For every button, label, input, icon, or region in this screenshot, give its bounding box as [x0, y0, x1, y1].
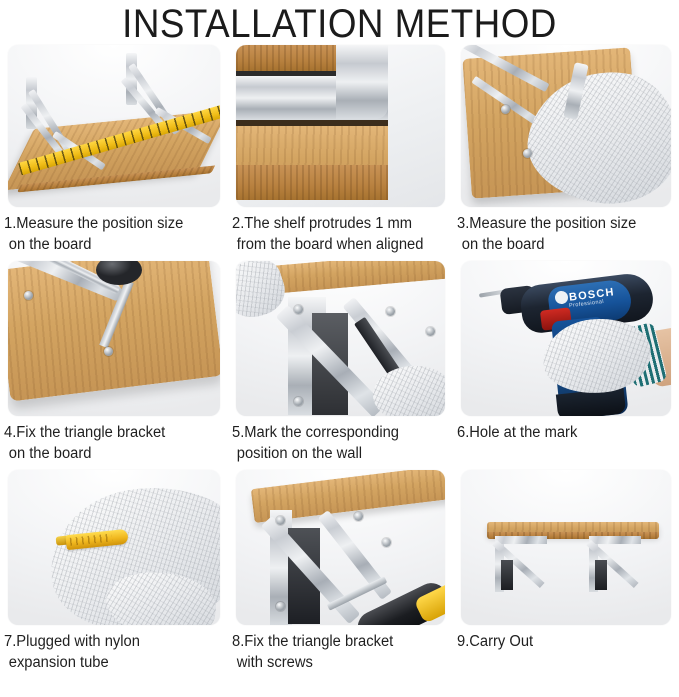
- rivet-icon: [276, 602, 285, 611]
- step-3-caption-line-2: on the board: [457, 234, 664, 255]
- step-8-caption-line-2: with screws: [232, 652, 438, 673]
- step-7-caption-line-2: expansion tube: [4, 652, 213, 673]
- nylon-plug-ribs: [70, 533, 113, 545]
- step-1-caption-line-2: on the board: [4, 234, 213, 255]
- step-1-caption: 1.Measure the position size on the board: [4, 213, 213, 261]
- step-9-caption-line-1: 9.Carry Out: [457, 633, 533, 650]
- step-1-caption-line-1: 1.Measure the position size: [4, 215, 183, 232]
- step-5-caption-line-2: position on the wall: [232, 443, 438, 464]
- step-8-image: [236, 470, 445, 625]
- step-2-caption: 2.The shelf protrudes 1 mm from the boar…: [232, 213, 438, 261]
- rivet-icon: [523, 149, 532, 158]
- step-9-caption: 9.Carry Out: [457, 631, 664, 679]
- step-4-caption-line-2: on the board: [4, 443, 213, 464]
- step-7-caption: 7.Plugged with nylon expansion tube: [4, 631, 213, 679]
- step-6-caption-line-1: 6.Hole at the mark: [457, 424, 577, 441]
- steps-row-1: 1.Measure the position size on the board: [0, 45, 679, 261]
- rivet-icon: [501, 105, 510, 114]
- page-title: INSTALLATION METHOD: [27, 0, 652, 46]
- steps-grid: 1.Measure the position size on the board: [0, 45, 679, 679]
- step-6-image: BOSCH Professional: [461, 261, 671, 416]
- step-1-image: [8, 45, 220, 207]
- step-card-8: 8.Fix the triangle bracket with screws: [228, 470, 453, 679]
- bracket-horizontal-arm: [495, 536, 547, 544]
- step-6-caption: 6.Hole at the mark: [457, 422, 664, 470]
- rivet-icon: [294, 397, 303, 406]
- step-card-5: 5.Mark the corresponding position on the…: [228, 261, 453, 470]
- step-5-caption: 5.Mark the corresponding position on the…: [232, 422, 438, 470]
- rivet-icon: [386, 307, 395, 316]
- rivet-icon: [354, 512, 363, 521]
- step-3-caption: 3.Measure the position size on the board: [457, 213, 664, 261]
- step-7-caption-line-1: 7.Plugged with nylon: [4, 633, 140, 650]
- step-8-caption: 8.Fix the triangle bracket with screws: [232, 631, 438, 679]
- step-card-3: 3.Measure the position size on the board: [453, 45, 679, 261]
- installation-guide-page: INSTALLATION METHOD: [0, 0, 679, 697]
- step-4-image: [8, 261, 220, 416]
- steps-row-2: 4.Fix the triangle bracket on the board: [0, 261, 679, 470]
- step-card-1: 1.Measure the position size on the board: [0, 45, 228, 261]
- bracket-dark-channel: [595, 560, 607, 590]
- bracket-horizontal-arm: [589, 536, 641, 544]
- mounted-bracket-right: [589, 536, 647, 592]
- step-card-2: 2.The shelf protrudes 1 mm from the boar…: [228, 45, 453, 261]
- step-3-image: [461, 45, 671, 207]
- rivet-icon: [276, 516, 285, 525]
- step-2-caption-line-1: 2.The shelf protrudes 1 mm: [232, 215, 412, 232]
- rivet-icon: [294, 305, 303, 314]
- step-7-image: [8, 470, 220, 625]
- rivet-icon: [24, 291, 33, 300]
- bracket-dark-channel: [501, 560, 513, 590]
- rivet-icon: [426, 327, 435, 336]
- steps-row-3: 7.Plugged with nylon expansion tube: [0, 470, 679, 679]
- mounted-bracket-left: [495, 536, 553, 592]
- step-5-caption-line-1: 5.Mark the corresponding: [232, 424, 399, 441]
- step-3-caption-line-1: 3.Measure the position size: [457, 215, 636, 232]
- step-5-image: [236, 261, 445, 416]
- step-2-image: [236, 45, 445, 207]
- step-card-9: 9.Carry Out: [453, 470, 679, 679]
- rivet-icon: [382, 538, 391, 547]
- rivet-icon: [104, 347, 113, 356]
- step-card-7: 7.Plugged with nylon expansion tube: [0, 470, 228, 679]
- step-2-caption-line-2: from the board when aligned: [232, 234, 438, 255]
- step-9-image: [461, 470, 671, 625]
- step-card-6: BOSCH Professional 6.Hole at the mark: [453, 261, 679, 470]
- bracket-tab: [336, 45, 388, 119]
- step-4-caption-line-1: 4.Fix the triangle bracket: [4, 424, 165, 441]
- board-lower-edge: [236, 165, 388, 200]
- step-card-4: 4.Fix the triangle bracket on the board: [0, 261, 228, 470]
- step-8-caption-line-1: 8.Fix the triangle bracket: [232, 633, 393, 650]
- step-4-caption: 4.Fix the triangle bracket on the board: [4, 422, 213, 470]
